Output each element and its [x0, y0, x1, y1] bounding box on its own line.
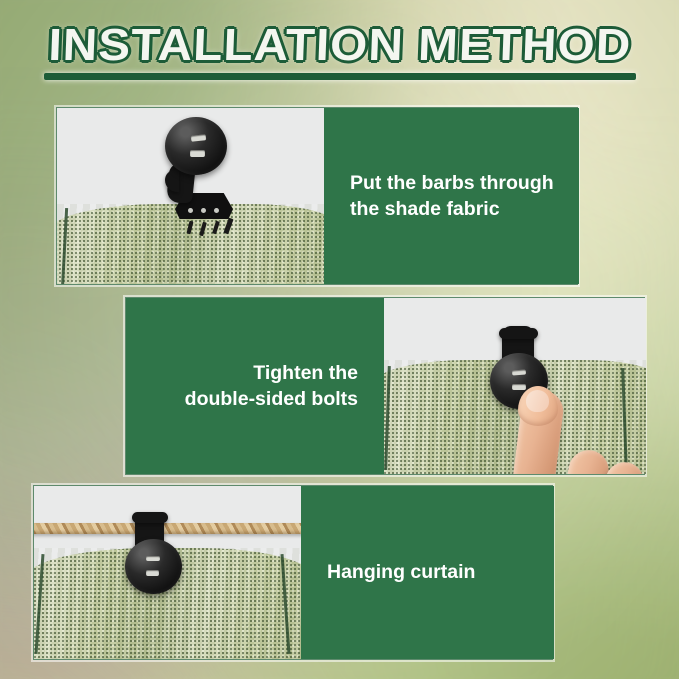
hanging-rope	[34, 523, 301, 534]
step-2-row: Tighten the double-sided bolts	[125, 297, 645, 475]
step-1-row: Put the barbs through the shade fabric	[56, 107, 578, 285]
hanging-curtain-photo	[34, 486, 301, 659]
step-3-caption-line-1: Hanging curtain	[327, 559, 475, 585]
barb-plate-hole-3	[214, 208, 219, 213]
step-2-caption: Tighten the double-sided bolts	[126, 298, 384, 474]
page-title: INSTALLATION METHOD	[47, 22, 631, 68]
tighten-bolts-photo	[384, 298, 646, 474]
step-3-row: Hanging curtain	[33, 485, 553, 660]
clip-disc-slot-bottom	[190, 150, 205, 157]
step-1-caption: Put the barbs through the shade fabric	[324, 108, 579, 284]
clip-disc-slot-top	[191, 134, 207, 142]
clip-arm-hook	[499, 328, 538, 339]
clip-disc-slot-top	[146, 556, 160, 561]
step-1-caption-line-1: Put the barbs through	[350, 170, 554, 196]
clip-disc-slot-bottom	[146, 570, 159, 576]
page-title-block: INSTALLATION METHOD	[0, 22, 679, 80]
barb-plate-hole-2	[201, 208, 206, 213]
step-2-caption-line-2: double-sided bolts	[185, 386, 358, 412]
clip-disc-slot-top	[512, 370, 526, 376]
clip-disc	[125, 539, 182, 594]
step-2-caption-line-1: Tighten the	[185, 360, 358, 386]
fingernail	[526, 390, 549, 412]
clip-disc-slot-bottom	[512, 384, 526, 390]
title-underline-rule	[44, 73, 636, 80]
barb-plate-hole-1	[188, 208, 193, 213]
step-1-caption-line-2: the shade fabric	[350, 196, 554, 222]
barbs-through-fabric-photo	[57, 108, 324, 284]
step-3-caption: Hanging curtain	[301, 486, 554, 659]
clip-arm-hook	[132, 512, 168, 523]
clip-disc	[165, 117, 227, 175]
